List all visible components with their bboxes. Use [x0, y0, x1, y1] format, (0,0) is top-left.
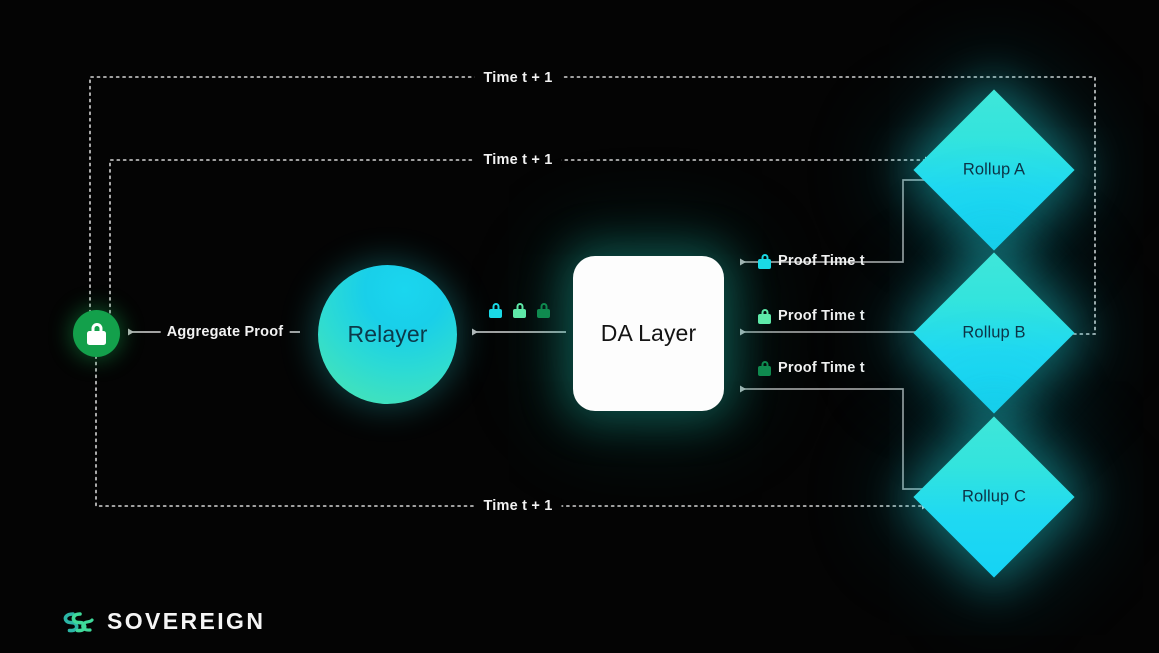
- brand-logo: SOVEREIGN: [60, 608, 265, 635]
- time-label-outer: Time t + 1: [474, 70, 561, 86]
- padlock-icon-mint: [758, 309, 771, 324]
- relayer-node[interactable]: Relayer: [318, 265, 457, 404]
- aggregate-proof-label: Aggregate Proof: [161, 324, 290, 340]
- relayer-label: Relayer: [348, 321, 428, 348]
- padlock-icon-cyan: [489, 303, 502, 318]
- proof-time-text-b: Proof Time t: [778, 308, 865, 324]
- padlock-icon: [87, 323, 106, 345]
- diagram-canvas: Time t + 1 Time t + 1 Time t + 1 Aggrega…: [0, 0, 1159, 653]
- proof-time-text-a: Proof Time t: [778, 253, 865, 269]
- proof-time-text-c: Proof Time t: [778, 360, 865, 376]
- brand-name: SOVEREIGN: [107, 608, 265, 635]
- rollup-label-b: Rollup B: [962, 324, 1025, 343]
- da-lock-group: [489, 303, 550, 318]
- aggregate-proof-lock-node[interactable]: [73, 310, 120, 357]
- sovereign-mark-icon: [60, 609, 94, 635]
- padlock-icon-cyan: [758, 254, 771, 269]
- proof-time-label-b: Proof Time t: [758, 308, 865, 324]
- proof-time-label-a: Proof Time t: [758, 253, 865, 269]
- rollup-label-a: Rollup A: [963, 161, 1025, 180]
- proof-time-label-c: Proof Time t: [758, 360, 865, 376]
- time-label-middle: Time t + 1: [474, 152, 561, 168]
- padlock-icon-green: [758, 361, 771, 376]
- rollup-label-c: Rollup C: [962, 488, 1026, 507]
- da-layer-node[interactable]: DA Layer: [573, 256, 724, 411]
- padlock-icon-mint: [513, 303, 526, 318]
- padlock-icon-green: [537, 303, 550, 318]
- time-label-bottom: Time t + 1: [474, 498, 561, 514]
- da-layer-label: DA Layer: [601, 320, 696, 347]
